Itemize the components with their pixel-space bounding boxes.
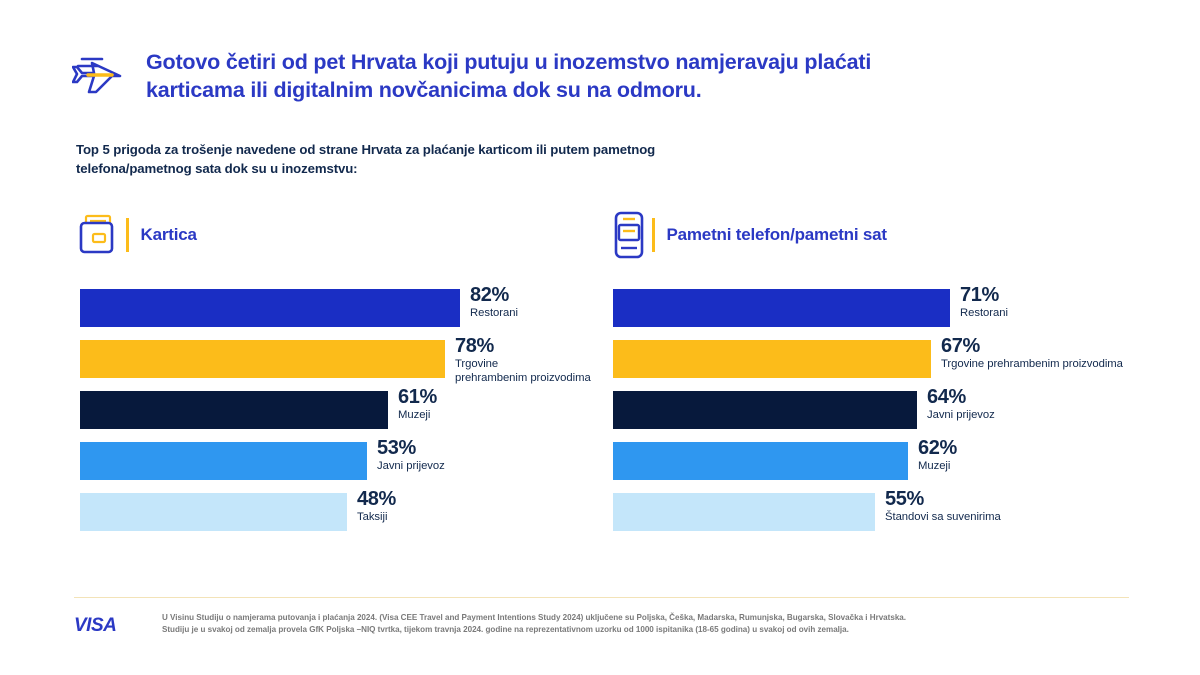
section-label-smartphone: Pametni telefon/pametni sat	[667, 225, 887, 245]
bar-category-label: Trgovine	[455, 358, 591, 372]
footer-divider	[74, 597, 1129, 598]
bar-value: 48%	[357, 488, 396, 511]
bar-row: 53%Javni prijevoz	[80, 442, 640, 480]
bar-label-group: 55%Štandovi sa suvenirima	[885, 488, 1001, 525]
bar-value: 53%	[377, 437, 445, 460]
visa-logo-text: VISA	[74, 615, 116, 636]
bar-category-label: Muzeji	[398, 409, 437, 423]
section-label-card: Kartica	[141, 225, 197, 245]
footer: VISA U Visinu Studiju o namjerama putova…	[74, 612, 906, 641]
wallet-card-icon	[78, 212, 120, 258]
bar	[80, 289, 460, 327]
bar	[80, 493, 347, 531]
section-accent-divider	[126, 218, 129, 252]
bar-label-group: 67%Trgovine prehrambenim proizvodima	[941, 335, 1123, 372]
bar-row: 61%Muzeji	[80, 391, 640, 429]
section-header-card: Kartica	[78, 208, 197, 262]
bar	[613, 340, 931, 378]
smartphone-icon	[612, 211, 646, 259]
section-accent-divider	[652, 218, 655, 252]
footnote-line-1: U Visinu Studiju o namjerama putovanja i…	[162, 612, 906, 624]
bar-label-group: 78%Trgovineprehrambenim proizvodima	[455, 335, 591, 386]
bar-label-group: 48%Taksiji	[357, 488, 396, 525]
bar-row: 48%Taksiji	[80, 493, 640, 531]
bar-value: 62%	[918, 437, 957, 460]
bar-value: 78%	[455, 335, 591, 358]
section-header-smartphone: Pametni telefon/pametni sat	[612, 208, 887, 262]
bar	[80, 340, 445, 378]
bar-label-group: 62%Muzeji	[918, 437, 957, 474]
chart-smartphone-occasions: 71%Restorani67%Trgovine prehrambenim pro…	[613, 289, 1173, 544]
bar	[613, 442, 908, 480]
bar	[613, 289, 950, 327]
page-title: Gotovo četiri od pet Hrvata koji putuju …	[146, 48, 972, 105]
bar	[80, 391, 388, 429]
infographic-page: Gotovo četiri od pet Hrvata koji putuju …	[0, 0, 1200, 675]
bar-value: 55%	[885, 488, 1001, 511]
footnote-line-2: Studiju je u svakoj od zemalja provela G…	[162, 624, 906, 636]
bar-category-label: Muzeji	[918, 460, 957, 474]
bar-category-label: Javni prijevoz	[377, 460, 445, 474]
bar-value: 71%	[960, 284, 1008, 307]
bar-category-label: Trgovine prehrambenim proizvodima	[941, 358, 1123, 372]
bar-row: 62%Muzeji	[613, 442, 1173, 480]
bar-category-label: Javni prijevoz	[927, 409, 995, 423]
bar-category-label: Štandovi sa suvenirima	[885, 511, 1001, 525]
bar-category-label: Taksiji	[357, 511, 396, 525]
bar-value: 82%	[470, 284, 518, 307]
bar-value: 67%	[941, 335, 1123, 358]
bar-category-label: Restorani	[960, 307, 1008, 321]
headline-block: Gotovo četiri od pet Hrvata koji putuju …	[72, 48, 972, 105]
bar-row: 67%Trgovine prehrambenim proizvodima	[613, 340, 1173, 378]
subtitle: Top 5 prigoda za trošenje navedene od st…	[76, 140, 716, 178]
bar	[80, 442, 367, 480]
bar-label-group: 64%Javni prijevoz	[927, 386, 995, 423]
bar-label-group: 82%Restorani	[470, 284, 518, 321]
bar-row: 71%Restorani	[613, 289, 1173, 327]
bar-label-group: 53%Javni prijevoz	[377, 437, 445, 474]
bar-row: 82%Restorani	[80, 289, 640, 327]
bar-row: 64%Javni prijevoz	[613, 391, 1173, 429]
bar-label-group: 71%Restorani	[960, 284, 1008, 321]
chart-card-occasions: 82%Restorani78%Trgovineprehrambenim proi…	[80, 289, 640, 544]
footnote-block: U Visinu Studiju o namjerama putovanja i…	[162, 612, 906, 636]
bar-label-group: 61%Muzeji	[398, 386, 437, 423]
bar-value: 61%	[398, 386, 437, 409]
visa-logo: VISA	[74, 614, 140, 641]
bar-category-label: prehrambenim proizvodima	[455, 372, 591, 386]
bar-category-label: Restorani	[470, 307, 518, 321]
bar-value: 64%	[927, 386, 995, 409]
airplane-icon	[72, 54, 128, 98]
bar	[613, 391, 917, 429]
bar-row: 55%Štandovi sa suvenirima	[613, 493, 1173, 531]
bar	[613, 493, 875, 531]
bar-row: 78%Trgovineprehrambenim proizvodima	[80, 340, 640, 378]
